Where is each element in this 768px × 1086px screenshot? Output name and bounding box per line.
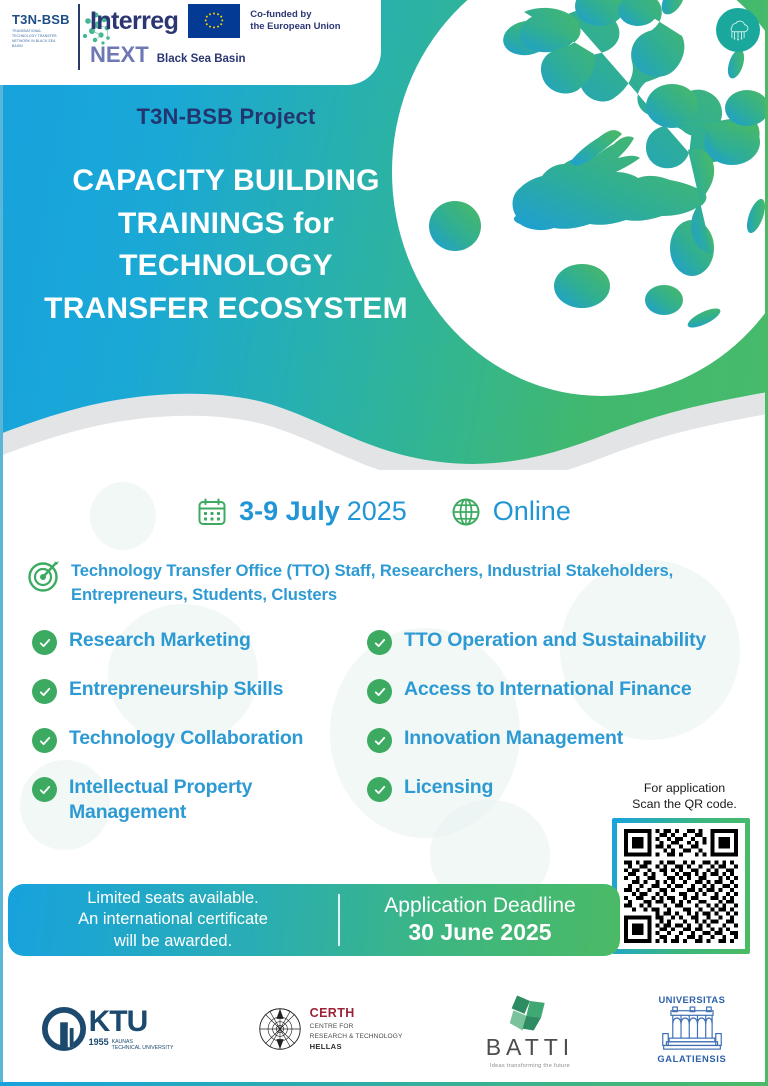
- bottom-edge-accent: [0, 1082, 768, 1086]
- deadline-label: Application Deadline: [340, 894, 620, 919]
- eu-flag-icon: [188, 4, 240, 38]
- qr-caption-line-2: Scan the QR code.: [612, 796, 757, 812]
- globe-icon: [451, 497, 481, 527]
- seats-notice-line-3: will be awarded.: [8, 931, 338, 952]
- application-deadline: Application Deadline 30 June 2025: [340, 894, 620, 946]
- qr-code[interactable]: [617, 823, 745, 949]
- event-mode: Online: [451, 496, 571, 527]
- poster-root: T3N-BSB Project CAPACITY BUILDING TRAINI…: [0, 0, 768, 1086]
- network-cloud-icon: [716, 8, 760, 52]
- topic-label: Innovation Management: [404, 726, 623, 751]
- interreg-programme-name: Black Sea Basin: [157, 53, 246, 65]
- certh-subtitle-line-1: CENTRE FOR: [310, 1022, 403, 1031]
- event-date-range: 3-9 July: [239, 496, 340, 526]
- list-item: Access to International Finance: [367, 677, 752, 726]
- left-edge-accent: [0, 0, 3, 1086]
- batti-mark-icon: [502, 990, 558, 1036]
- topic-label: Entrepreneurship Skills: [69, 677, 283, 702]
- eu-funding-line-2: the European Union: [250, 21, 340, 33]
- eu-funding-text: Co-funded by the European Union: [250, 9, 340, 33]
- list-item: Entrepreneurship Skills: [32, 677, 367, 726]
- list-item: Innovation Management: [367, 726, 752, 775]
- seats-notice-line-1: Limited seats available.: [8, 888, 338, 909]
- deadline-banner: Limited seats available. An internationa…: [8, 884, 620, 956]
- project-kicker: T3N-BSB Project: [0, 104, 452, 130]
- list-item: Technology Collaboration: [32, 726, 367, 775]
- certh-wordmark: CERTH: [310, 1007, 403, 1020]
- event-date-text: 3-9 July2025: [239, 496, 407, 527]
- certh-subtitle: CENTRE FOR RESEARCH & TECHNOLOGY: [310, 1022, 403, 1041]
- topic-label: Access to International Finance: [404, 677, 691, 702]
- ktu-year: 1955: [89, 1037, 109, 1047]
- list-item: Research Marketing: [32, 628, 367, 677]
- seats-notice: Limited seats available. An internationa…: [8, 888, 338, 952]
- ktu-subtitle-line-2: TECHNICAL UNIVERSITY: [112, 1045, 174, 1052]
- header-logo-card: T3N-BSB TRANSNATIONAL TECHNOLOGY TRANSFE…: [0, 0, 381, 85]
- ktu-wordmark: KTU: [89, 1007, 174, 1037]
- ktu-subtitle: KAUNAS TECHNICAL UNIVERSITY: [112, 1039, 174, 1052]
- batti-wordmark: BATTI: [486, 1036, 574, 1059]
- interreg-next-wordmark: NEXT: [90, 42, 149, 68]
- certh-logo: CERTH CENTRE FOR RESEARCH & TECHNOLOGY H…: [257, 1006, 403, 1052]
- partner-logos: KTU 1955 KAUNAS TECHNICAL UNIVERSITY: [0, 990, 768, 1068]
- seats-notice-line-2: An international certificate: [8, 909, 338, 930]
- check-circle-icon: [367, 728, 392, 753]
- check-circle-icon: [32, 630, 57, 655]
- logo-divider: [78, 4, 80, 70]
- target-icon: [26, 556, 64, 594]
- ugal-building-icon: [660, 1005, 724, 1053]
- certh-hellas: HELLAS: [310, 1042, 403, 1051]
- ugal-bottom-text: GALATIENSIS: [657, 1053, 726, 1064]
- eu-funding-line-1: Co-funded by: [250, 9, 340, 21]
- page-title: CAPACITY BUILDING TRAININGS for TECHNOLO…: [0, 160, 452, 330]
- qr-frame: [612, 818, 750, 954]
- qr-caption-line-1: For application: [612, 780, 757, 796]
- topic-label: Licensing: [404, 775, 493, 800]
- hero-text-block: T3N-BSB Project CAPACITY BUILDING TRAINI…: [0, 104, 452, 330]
- calendar-icon: [197, 497, 227, 527]
- ugal-logo: UNIVERSITAS GALATIENSIS: [657, 994, 726, 1064]
- topic-label: Research Marketing: [69, 628, 251, 653]
- interreg-logo: Interreg Co-: [90, 4, 360, 68]
- list-item: TTO Operation and Sustainability: [367, 628, 752, 677]
- title-line-4: TRANSFER ECOSYSTEM: [0, 288, 452, 331]
- check-circle-icon: [367, 679, 392, 704]
- title-line-3: TECHNOLOGY: [0, 245, 452, 288]
- topic-label: Intellectual Property Management: [69, 775, 319, 825]
- ugal-top-text: UNIVERSITAS: [659, 994, 726, 1005]
- check-circle-icon: [32, 679, 57, 704]
- certh-subtitle-line-2: RESEARCH & TECHNOLOGY: [310, 1032, 403, 1041]
- title-line-1: CAPACITY BUILDING: [0, 160, 452, 203]
- deadline-date: 30 June 2025: [340, 919, 620, 947]
- ktu-mark-icon: [42, 1007, 86, 1051]
- batti-tagline: Ideas transforming the future: [490, 1063, 570, 1069]
- topic-label: TTO Operation and Sustainability: [404, 628, 706, 653]
- event-mode-label: Online: [493, 496, 571, 527]
- ktu-logo: KTU 1955 KAUNAS TECHNICAL UNIVERSITY: [42, 1007, 174, 1052]
- qr-caption: For application Scan the QR code.: [612, 780, 757, 812]
- qr-application-block[interactable]: For application Scan the QR code.: [612, 780, 757, 954]
- event-date: 3-9 July2025: [197, 496, 407, 527]
- topic-column-left: Research Marketing Entrepreneurship Skil…: [32, 628, 367, 847]
- target-audience: Technology Transfer Office (TTO) Staff, …: [26, 558, 752, 607]
- check-circle-icon: [367, 777, 392, 802]
- t3n-bsb-logo-subtitle: TRANSNATIONAL TECHNOLOGY TRANSFER NETWOR…: [12, 29, 66, 49]
- check-circle-icon: [32, 777, 57, 802]
- certh-mark-icon: [257, 1006, 303, 1052]
- event-date-year: 2025: [347, 496, 407, 526]
- topic-label: Technology Collaboration: [69, 726, 303, 751]
- title-line-2: TRAININGS for: [0, 203, 452, 246]
- check-circle-icon: [367, 630, 392, 655]
- list-item: Intellectual Property Management: [32, 775, 367, 847]
- target-audience-text: Technology Transfer Office (TTO) Staff, …: [71, 558, 752, 607]
- event-meta-row: 3-9 July2025 Online: [0, 496, 768, 527]
- interreg-wordmark: Interreg: [90, 7, 178, 36]
- batti-logo: BATTI Ideas transforming the future: [486, 990, 574, 1069]
- check-circle-icon: [32, 728, 57, 753]
